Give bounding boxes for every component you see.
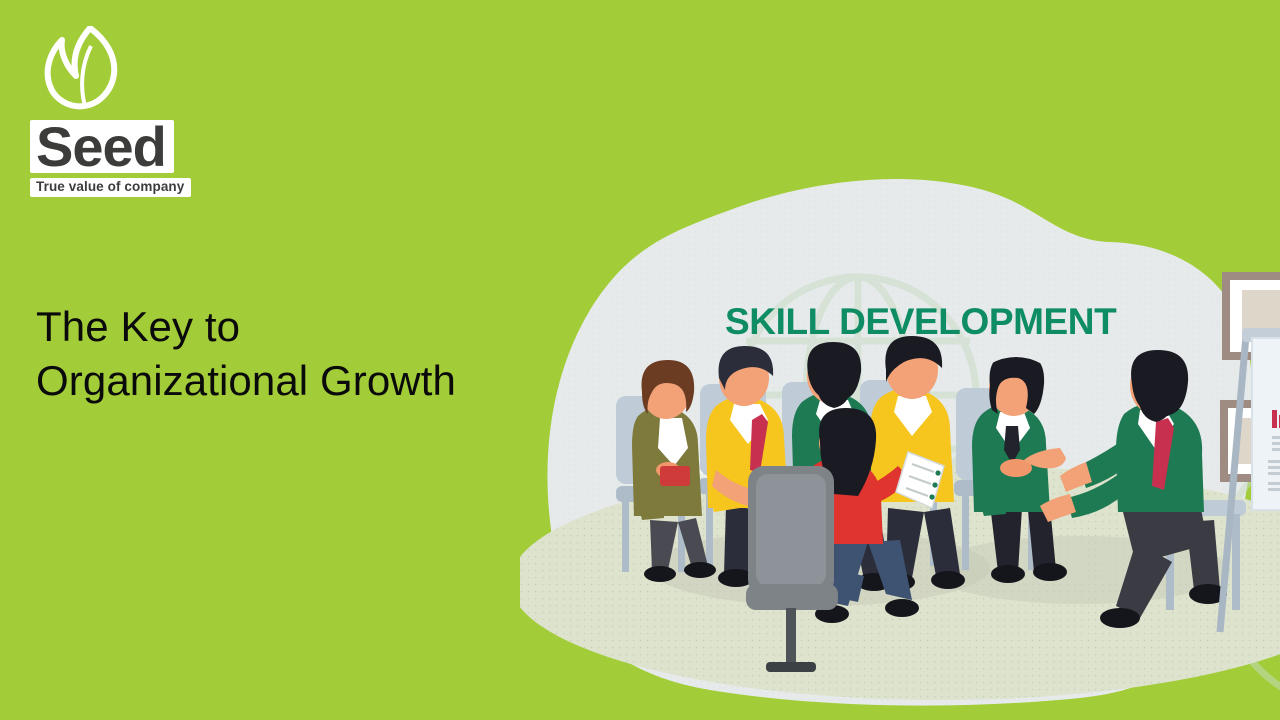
- brand-name: Seed: [36, 121, 166, 173]
- brand-logo[interactable]: Seed True value of company: [28, 26, 218, 186]
- brand-wordmark-box: Seed: [30, 120, 174, 173]
- brand-tagline-box: True value of company: [30, 178, 191, 197]
- brand-tagline: True value of company: [36, 180, 184, 194]
- leaf-icon: [36, 26, 132, 120]
- training-scene: [520, 170, 1280, 720]
- illustration: SKILL DEVELOPMENT: [520, 170, 1280, 720]
- slide-canvas: Seed True value of company The Key to Or…: [0, 0, 1280, 720]
